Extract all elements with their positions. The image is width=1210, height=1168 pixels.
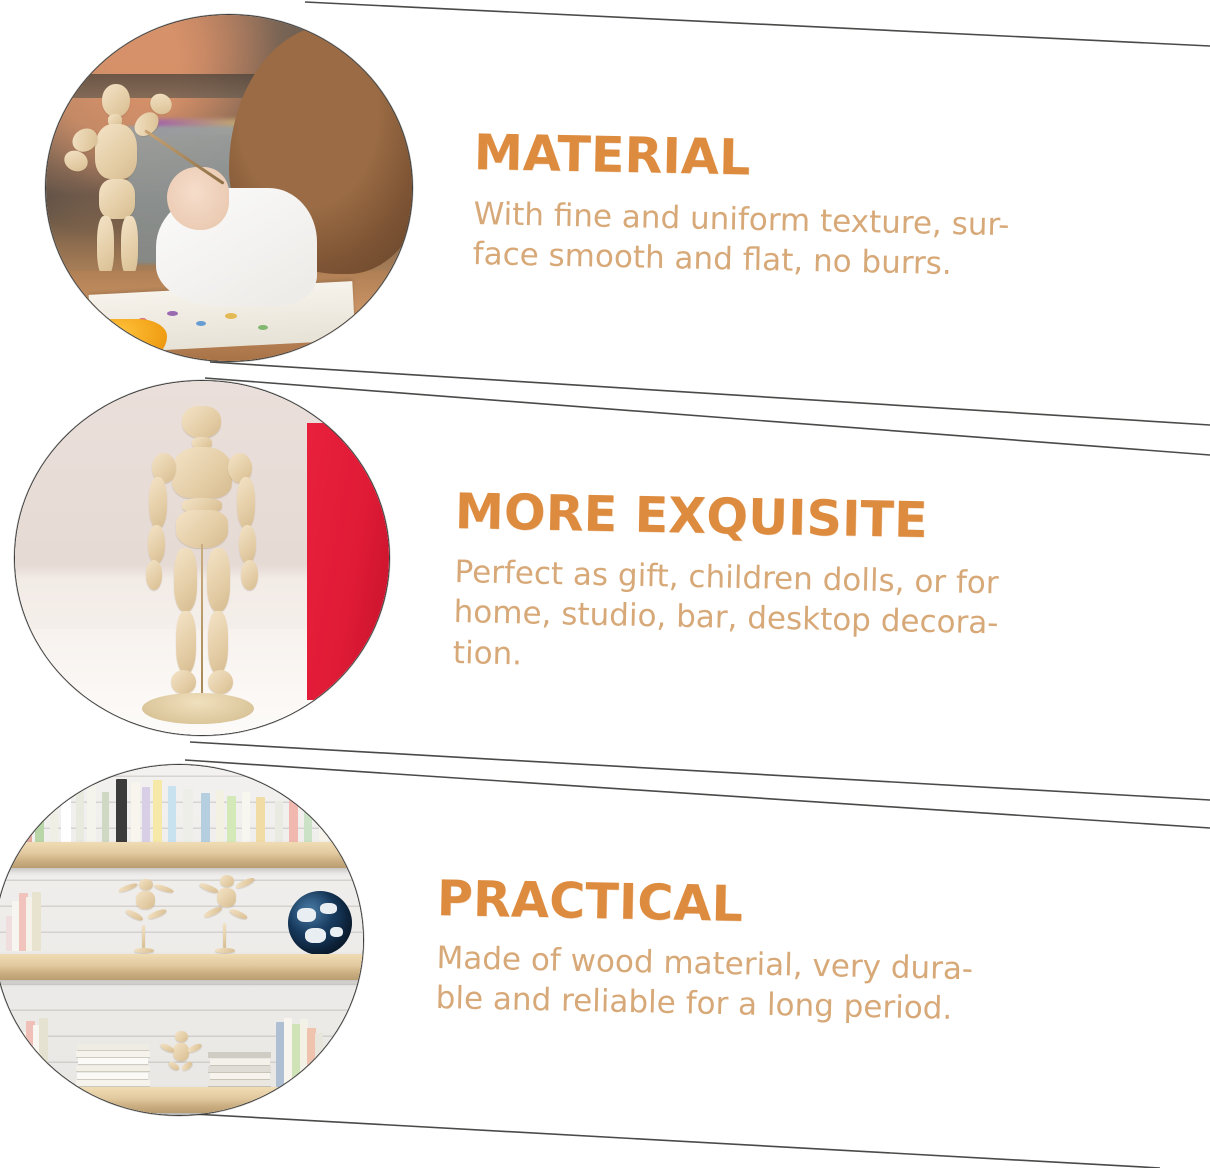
book-stack-right — [208, 1045, 271, 1087]
globe-decor — [288, 891, 352, 955]
orange-bowl — [72, 319, 167, 361]
shelf-board-bottom — [0, 1087, 364, 1113]
book-row-top — [0, 772, 363, 842]
support-rod — [201, 544, 204, 693]
shelf-board-middle — [0, 954, 364, 980]
red-panel — [307, 423, 389, 699]
feature-copy-practical: PRACTICAL Made of wood material, very du… — [437, 874, 1077, 1019]
mannequins-on-bookshelf-photo — [0, 764, 364, 1116]
feature-body-more-exquisite: Perfect as gift, children dolls, or for … — [452, 552, 1094, 686]
feature-copy-more-exquisite: MORE EXQUISITE Perfect as gift, children… — [455, 487, 1095, 673]
feature-body-material: With fine and uniform texture, sur- face… — [472, 194, 1114, 288]
wooden-mannequin-on-stand-photo — [14, 380, 390, 736]
shelf-board-top — [0, 842, 364, 868]
child-painting-wooden-mannequins-photo — [45, 14, 413, 362]
feature-body-practical: Made of wood material, very dura- ble an… — [435, 938, 1077, 1032]
book-stack-left — [76, 1031, 150, 1087]
feature-copy-material: MATERIAL With fine and uniform texture, … — [474, 128, 1114, 275]
book-row-lower-left — [10, 1010, 76, 1087]
book-row-middle — [2, 884, 83, 951]
child-hand — [167, 167, 229, 229]
feature-headline-material: MATERIAL — [474, 128, 1115, 189]
divider-line-top — [305, 2, 1210, 46]
book-row-lower-right — [275, 1010, 356, 1087]
feature-headline-practical: PRACTICAL — [437, 874, 1078, 935]
feature-headline-more-exquisite: MORE EXQUISITE — [455, 487, 1096, 548]
divider-line-bottom — [175, 1113, 1160, 1168]
mannequin-shelf-right — [197, 874, 256, 955]
mannequin-shelf-left — [116, 877, 175, 954]
infographic-page: MATERIAL With fine and uniform texture, … — [0, 0, 1210, 1168]
